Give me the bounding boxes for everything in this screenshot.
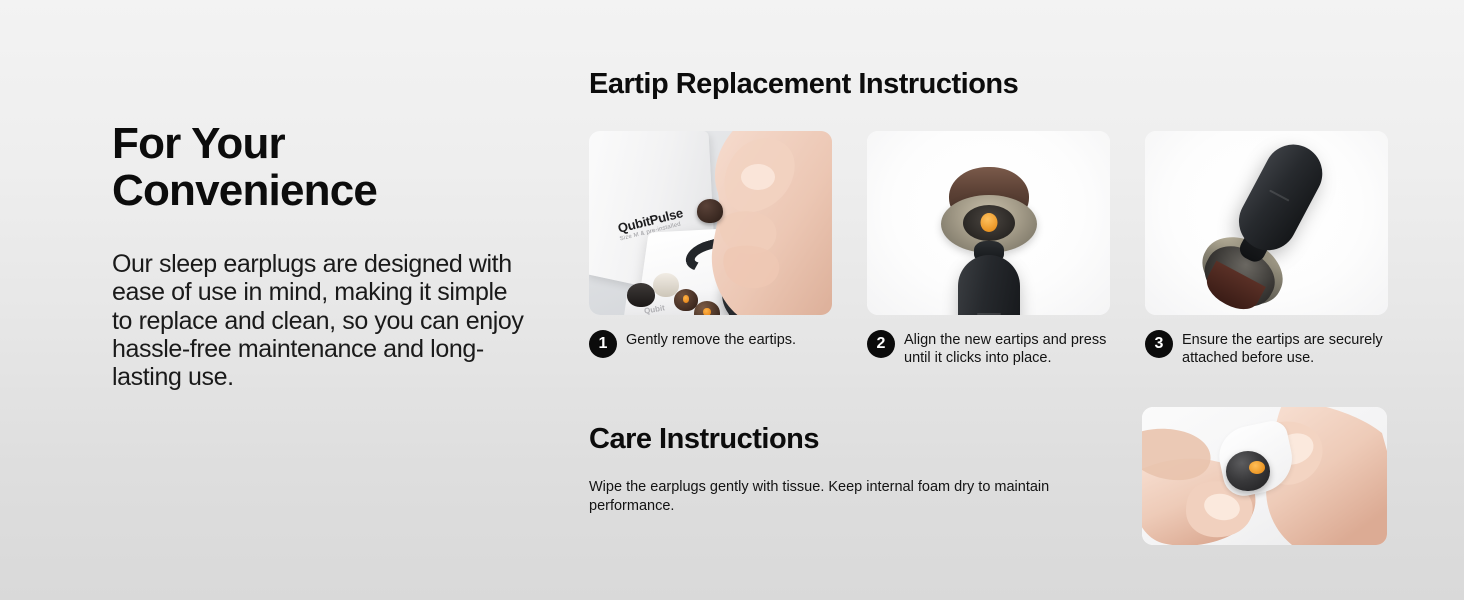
earbud-being-cleaned bbox=[1226, 451, 1270, 491]
instructions-panel: Eartip Replacement Instructions QubitPul… bbox=[589, 0, 1389, 600]
care-description: Wipe the earplugs gently with tissue. Ke… bbox=[589, 478, 1089, 515]
step-item: QubitPulse Size M & pre-installed Qubit bbox=[589, 131, 832, 367]
step-description: Align the new eartips and press until it… bbox=[904, 330, 1110, 367]
step-number-badge: 3 bbox=[1145, 330, 1173, 358]
page-title: For Your Convenience bbox=[112, 120, 532, 214]
step-1-photo: QubitPulse Size M & pre-installed Qubit bbox=[589, 131, 832, 315]
earbud-body bbox=[958, 255, 1020, 315]
step-1-caption: 1 Gently remove the eartips. bbox=[589, 330, 832, 358]
step-number-badge: 1 bbox=[589, 330, 617, 358]
intro-paragraph: Our sleep earplugs are designed with eas… bbox=[112, 250, 532, 391]
eartip-steps-row: QubitPulse Size M & pre-installed Qubit bbox=[589, 131, 1387, 367]
hand-illustration bbox=[654, 131, 832, 315]
eartip-section-title: Eartip Replacement Instructions bbox=[589, 68, 1018, 101]
left-intro-panel: For Your Convenience Our sleep earplugs … bbox=[112, 120, 532, 391]
step-item: 2 Align the new eartips and press until … bbox=[867, 131, 1110, 367]
step-3-photo bbox=[1145, 131, 1388, 315]
step-2-caption: 2 Align the new eartips and press until … bbox=[867, 330, 1110, 367]
step-3-caption: 3 Ensure the eartips are securely attach… bbox=[1145, 330, 1388, 367]
step-description: Gently remove the eartips. bbox=[626, 330, 796, 350]
step-item: 3 Ensure the eartips are securely attach… bbox=[1145, 131, 1388, 367]
care-photo bbox=[1142, 407, 1387, 545]
care-section-title: Care Instructions bbox=[589, 423, 819, 456]
step-2-photo bbox=[867, 131, 1110, 315]
nozzle-filter-dot bbox=[980, 213, 997, 232]
foam-tip-dark bbox=[627, 283, 655, 307]
eartip-in-hand bbox=[697, 199, 723, 223]
step-number-badge: 2 bbox=[867, 330, 895, 358]
step-description: Ensure the eartips are securely attached… bbox=[1182, 330, 1388, 367]
earbud-seam-line bbox=[977, 313, 1001, 315]
